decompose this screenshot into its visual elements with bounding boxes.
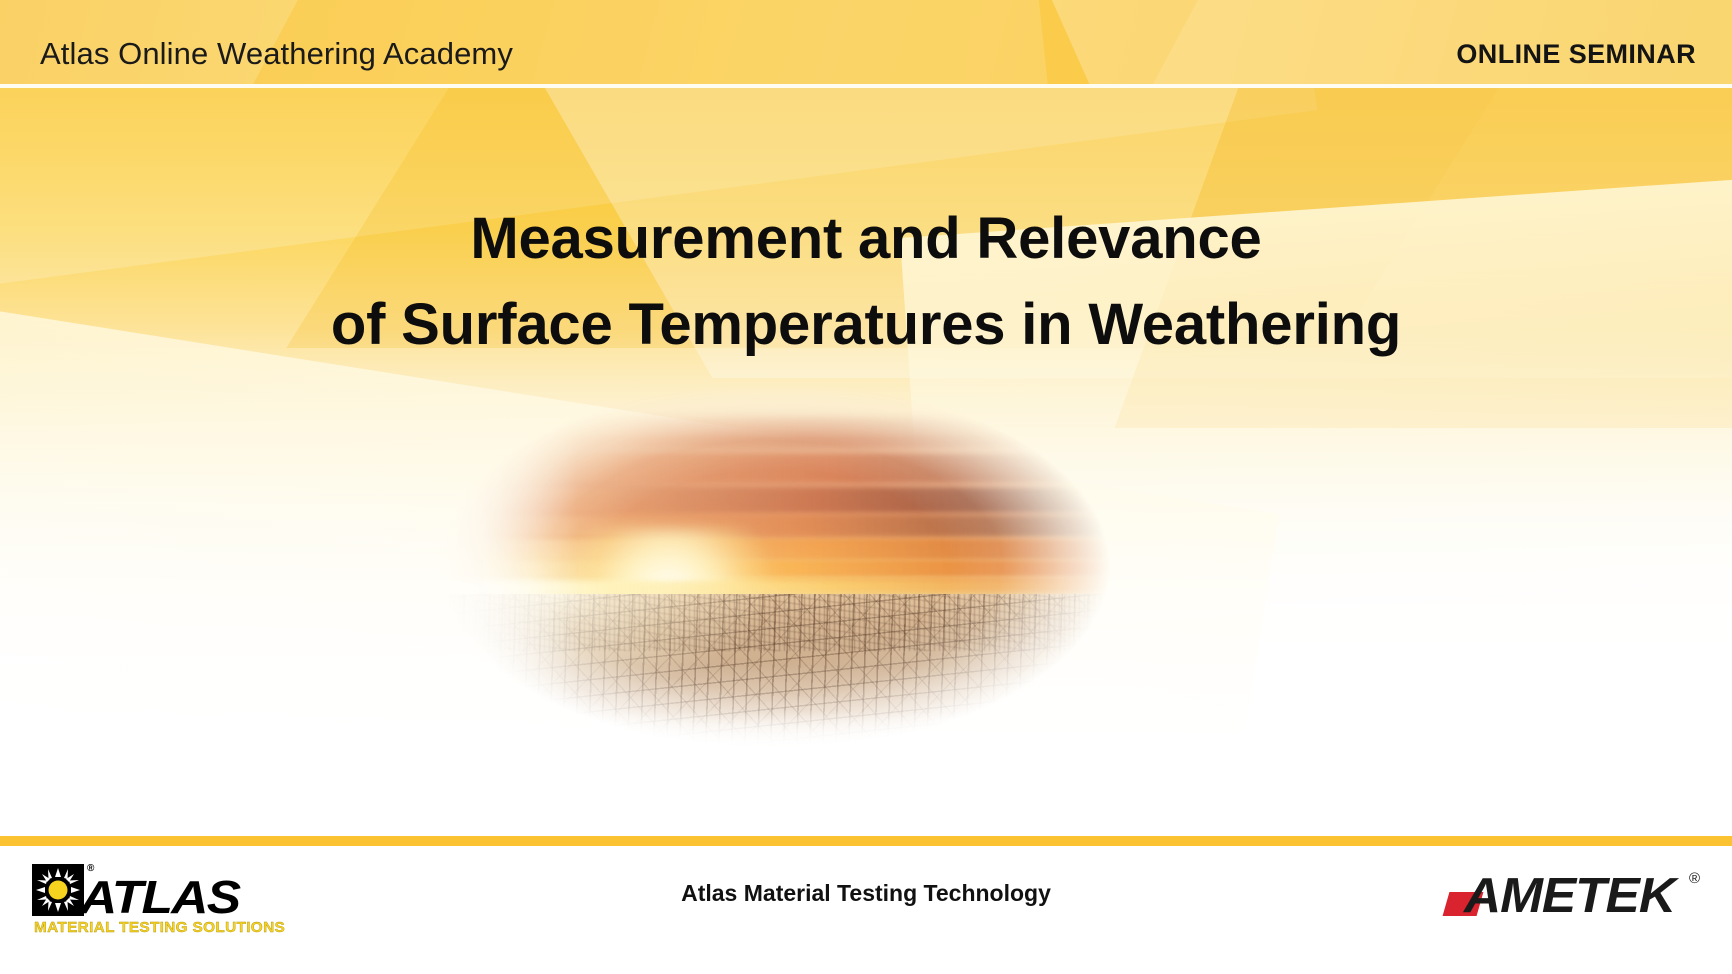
header-academy-label: Atlas Online Weathering Academy	[40, 36, 513, 72]
slide-footer: ® ATLAS MATERIAL TESTING SOLUTIONS Atlas…	[0, 846, 1732, 974]
ametek-registered-mark: ®	[1689, 870, 1700, 887]
slide-title-line-2: of Surface Temperatures in Weathering	[0, 282, 1732, 368]
ametek-wordmark: AMETEK	[1464, 868, 1675, 924]
slide-title-line-1: Measurement and Relevance	[0, 196, 1732, 282]
desert-sunset-photo-canvas	[424, 378, 1124, 753]
header-divider-rule	[0, 84, 1732, 88]
atlas-tagline: MATERIAL TESTING SOLUTIONS	[34, 920, 285, 936]
presentation-slide: Atlas Online Weathering Academy ONLINE S…	[0, 0, 1732, 974]
photo-top-fade	[424, 378, 1124, 438]
desert-sunset-photo	[424, 378, 1124, 753]
footer-divider-rule	[0, 836, 1732, 846]
slide-title: Measurement and Relevance of Surface Tem…	[0, 196, 1732, 368]
header-seminar-badge: ONLINE SEMINAR	[1456, 39, 1696, 70]
ametek-logo: AMETEK ®	[1446, 868, 1698, 926]
